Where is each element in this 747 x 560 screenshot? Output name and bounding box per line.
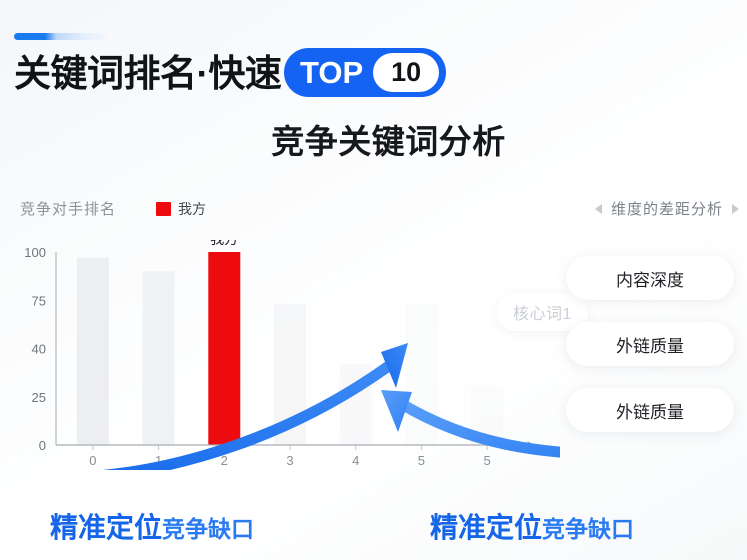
dimension-card-list: 内容深度 外链质量 外链质量 (566, 256, 734, 432)
caption-right: 精准定位 竞争缺口 (430, 506, 634, 546)
top-rank-badge: TOP 10 (284, 48, 446, 97)
legend-swatch-icon (156, 202, 171, 216)
progress-bar-icon (14, 33, 106, 40)
chart-header: 竞争对手排名 我方 (20, 198, 206, 219)
y-tick-label: 100 (24, 245, 46, 260)
chart-axis-caption: 竞争对手排名 (20, 198, 116, 219)
y-tick-label: 40 (32, 342, 46, 357)
legend-label: 我方 (178, 199, 206, 219)
caption-right-weak: 竞争缺口 (542, 510, 634, 544)
page-subtitle: 竞争关键词分析 (0, 115, 747, 163)
caption-right-strong: 精准定位 (430, 506, 542, 546)
dimension-card[interactable]: 外链质量 (566, 388, 734, 432)
dimension-card[interactable]: 外链质量 (566, 322, 734, 366)
y-tick-label: 0 (39, 438, 46, 453)
caption-left-weak: 竞争缺口 (162, 510, 254, 544)
top-rank-number: 10 (373, 53, 439, 92)
chart-bar-highlight[interactable] (208, 252, 240, 445)
competitor-ranking-chart: 1007540250 0123455 我方 (0, 240, 560, 470)
y-tick-label: 75 (32, 293, 46, 308)
highlight-bar-label: 我方 (210, 240, 238, 247)
triangle-right-icon[interactable] (732, 204, 739, 214)
x-tick-label: 3 (286, 453, 293, 468)
x-tick-label: 5 (484, 453, 491, 468)
y-tick-label: 25 (32, 390, 46, 405)
right-panel-title: 维度的差距分析 (611, 198, 723, 219)
top-rank-label: TOP (300, 57, 363, 88)
x-tick-label: 5 (418, 453, 425, 468)
page-title: 关键词排名·快速 (14, 55, 281, 92)
page-header: 关键词排名·快速 (14, 45, 281, 101)
chart-bars-group (77, 252, 503, 445)
chart-legend: 我方 (156, 199, 206, 219)
caption-left: 精准定位 竞争缺口 (50, 506, 254, 546)
right-panel-header: 维度的差距分析 (595, 198, 739, 219)
dimension-card[interactable]: 内容深度 (566, 256, 734, 300)
chart-bar[interactable] (77, 258, 109, 445)
chart-y-axis: 1007540250 (24, 245, 46, 453)
caption-left-strong: 精准定位 (50, 506, 162, 546)
triangle-left-icon[interactable] (595, 204, 602, 214)
chart-bar[interactable] (143, 271, 175, 445)
x-tick-label: 4 (352, 453, 359, 468)
x-tick-label: 0 (89, 453, 96, 468)
